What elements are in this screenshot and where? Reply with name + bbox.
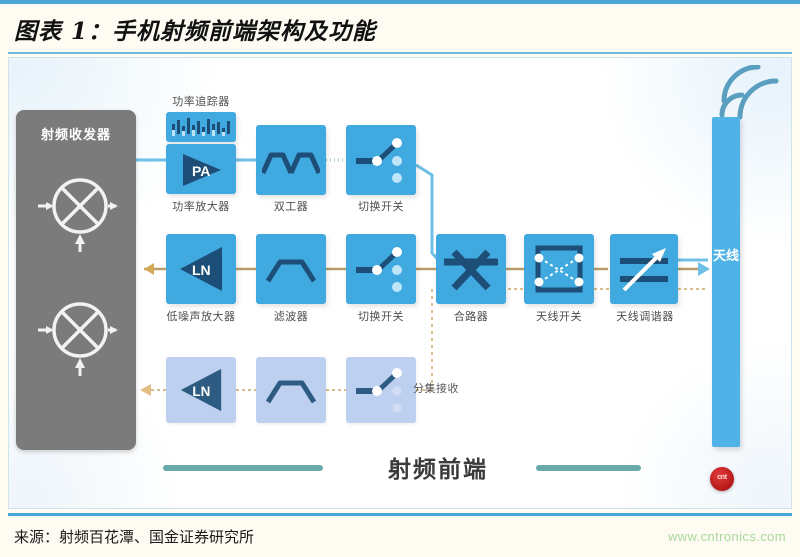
power-tracker-icon [170,116,232,138]
caption-rule-right [536,465,641,471]
rf-switch-icon [354,135,408,185]
lna-label: 低噪声放大器 [151,308,251,324]
filter-icon [266,377,316,405]
rx-switch-label: 切换开关 [336,308,426,324]
combiner-icon [444,246,498,292]
low-noise-amplifier-icon: LN [176,244,226,294]
antenna-switch-label: 天线开关 [514,308,604,324]
tx-switch-label: 切换开关 [336,198,426,214]
diversity-filter-block[interactable] [256,357,326,423]
rx-switch-block[interactable] [346,234,416,304]
power-amplifier-icon: PA [179,152,225,188]
cntronics-logo-badge: cnt [710,467,734,491]
power-amplifier-label: 功率放大器 [156,198,246,214]
low-noise-amplifier-icon: LN [176,366,226,414]
svg-text:LN: LN [192,384,210,399]
lna-block[interactable]: LN [166,234,236,304]
caption-row: 射频前端 [8,445,792,485]
mixer-icon [34,172,118,256]
caption-rule-left [163,465,323,471]
logo-badge-text: cnt [710,474,734,481]
svg-text:LN: LN [192,262,211,278]
antenna-tuner-label: 天线调谐器 [599,308,691,324]
rf-transceiver-label: 射频收发器 [16,124,136,143]
mixer-icon [34,296,118,380]
title-underline [8,52,792,54]
antenna-tuner-icon [616,246,672,294]
antenna-label: 天线 [712,247,740,264]
antenna-block[interactable] [712,117,740,447]
power-tracker-label: 功率追踪器 [156,93,246,109]
caption-text: 射频前端 [363,450,513,484]
diversity-receive-label: 分集接收 [413,380,459,396]
filter-icon [266,256,316,284]
diversity-lna-block[interactable]: LN [166,357,236,423]
combiner-label: 合路器 [426,308,516,324]
figure-title: 图表 1：手机射频前端架构及功能 [14,12,376,46]
source-divider [8,513,792,516]
top-rule [0,0,800,4]
source-text: 来源：射频百花潭、国金证券研究所 [14,526,254,547]
rf-transceiver-block[interactable]: 射频收发器 [16,110,136,450]
rf-switch-icon [354,244,408,294]
diagram-canvas: 射频收发器 [8,57,792,509]
figure-page: 图表 1：手机射频前端架构及功能 [0,0,800,557]
duplexer-block[interactable] [256,125,326,195]
rf-switch-icon [354,365,408,415]
duplexer-label: 双工器 [246,198,336,214]
antenna-switch-block[interactable] [524,234,594,304]
svg-text:PA: PA [192,163,210,179]
site-watermark: www.cntronics.com [668,529,786,544]
antenna-tuner-block[interactable] [610,234,678,304]
power-tracker-block[interactable] [166,112,236,142]
filter-label: 滤波器 [246,308,336,324]
antenna-switch-icon [532,242,586,296]
diversity-switch-block[interactable] [346,357,416,423]
filter-block[interactable] [256,234,326,304]
power-amplifier-block[interactable]: PA [166,144,236,194]
tx-switch-block[interactable] [346,125,416,195]
combiner-block[interactable] [436,234,506,304]
duplexer-icon [262,145,320,177]
